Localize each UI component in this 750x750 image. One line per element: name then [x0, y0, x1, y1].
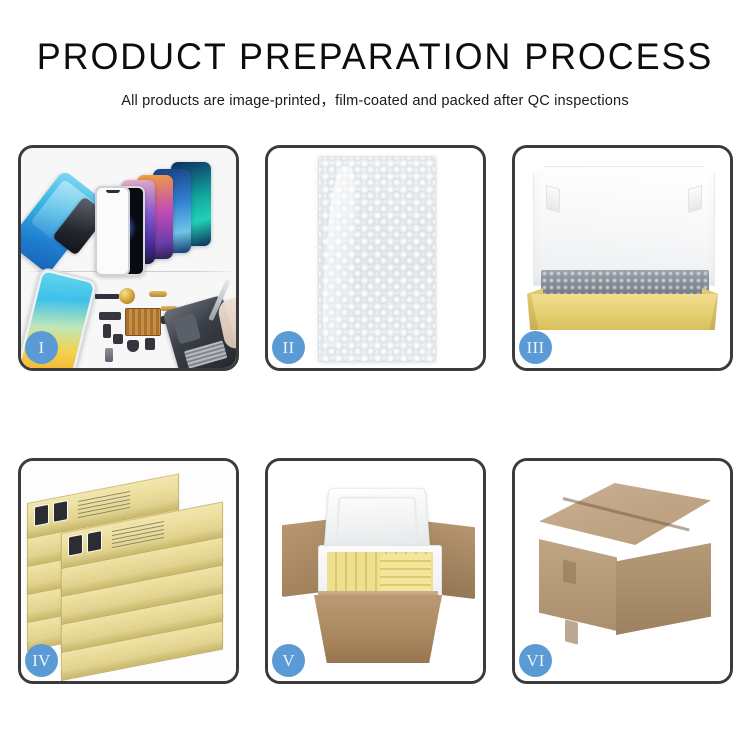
page-subtitle: All products are image-printed，film-coat… — [0, 89, 750, 110]
black-strip-part-icon — [95, 294, 119, 299]
step-panel-4[interactable]: IV — [18, 458, 239, 684]
foam-lid-icon — [323, 488, 430, 554]
step-badge-6: VI — [519, 644, 552, 677]
phone-thumbnail-icon — [87, 530, 102, 553]
step-panel-3[interactable]: III — [512, 145, 733, 371]
page-header: PRODUCT PREPARATION PROCESS All products… — [0, 0, 750, 110]
notch-icon — [106, 190, 120, 193]
yellow-boxes-row-right — [380, 554, 431, 592]
lid-ear-right — [688, 185, 702, 213]
gold-connector-part-icon — [149, 291, 167, 297]
lid-ear-left — [546, 185, 560, 213]
bubble-wrap-bag-group — [318, 156, 436, 362]
step-panel-6[interactable]: VI — [512, 458, 733, 684]
small-part-icon-a — [103, 324, 111, 338]
step-badge-3: III — [519, 331, 552, 364]
white-box-lid-icon — [533, 166, 715, 286]
phone-thumbnail-icon — [68, 534, 83, 557]
speaker-part-icon — [127, 340, 139, 352]
stacked-boxes-group — [27, 483, 232, 665]
yellow-kraft-box-front — [531, 294, 717, 330]
step-badge-2: II — [272, 331, 305, 364]
flex-cable-part-icon — [99, 312, 121, 320]
sim-tray-part-icon — [105, 348, 113, 362]
step-badge-5: V — [272, 644, 305, 677]
cardboard-carton-icon — [314, 595, 442, 663]
process-steps-grid: I II — [18, 145, 734, 684]
tape-strip-upper — [563, 559, 576, 584]
chip-grid-part-icon — [125, 308, 161, 336]
camera-part-icon — [145, 338, 155, 350]
phone-thumbnail-icon — [34, 504, 49, 527]
phone-thumbnail-icon — [53, 500, 68, 523]
small-part-icon-b — [113, 334, 123, 344]
step-panel-5[interactable]: V — [265, 458, 486, 684]
step-panel-2[interactable]: II — [265, 145, 486, 371]
page-title: PRODUCT PREPARATION PROCESS — [11, 38, 739, 77]
step-badge-1: I — [25, 331, 58, 364]
tape-strip-lower — [565, 619, 578, 644]
grey-bubble-wrap-contents — [541, 270, 709, 298]
step-panel-1[interactable]: I — [18, 145, 239, 371]
white-screen-panel-icon — [95, 186, 130, 276]
step-badge-4: IV — [25, 644, 58, 677]
gold-coin-part-icon — [119, 288, 135, 304]
